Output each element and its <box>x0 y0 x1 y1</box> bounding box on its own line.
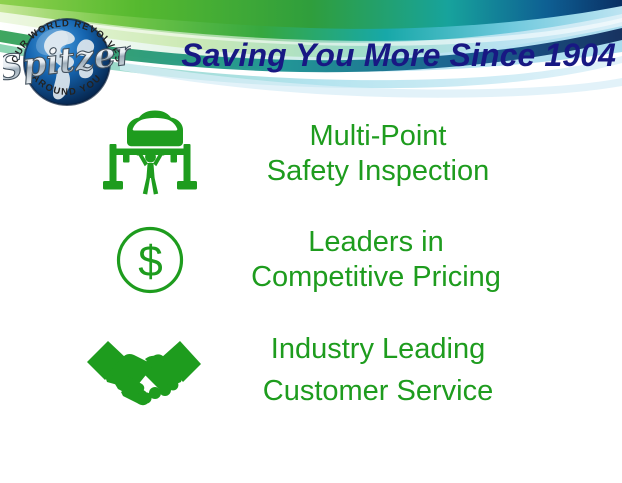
feature-text-leaders-in-competitive-pricing: Leaders in Competitive Pricing <box>208 225 542 296</box>
spitzer-logo: OUR WORLD REVOLVES AROUND YOU Spitzer <box>3 2 131 118</box>
svg-text:$: $ <box>138 237 162 286</box>
page-title: Saving You More Since 1904 <box>150 38 616 73</box>
feature-line: Safety Inspection <box>214 154 542 189</box>
feature-line: Competitive Pricing <box>210 260 542 295</box>
feature-text-industry-leading-customer-service: Industry Leading Customer Service <box>208 328 542 412</box>
feature-icon-wrapper <box>92 108 208 200</box>
feature-line: Industry Leading <box>214 328 542 370</box>
handshake-icon <box>85 332 203 408</box>
feature-icon-wrapper <box>80 332 208 408</box>
feature-line: Multi-Point <box>214 119 542 154</box>
feature-icon-wrapper: $ <box>92 224 208 296</box>
feature-text-multi-point-safety-inspection: Multi-Point Safety Inspection <box>208 119 542 190</box>
feature-industry-leading-customer-service: Industry Leading Customer Service <box>80 320 542 420</box>
slide-canvas: OUR WORLD REVOLVES AROUND YOU Spitzer Sa… <box>0 0 622 483</box>
car-lift-icon <box>101 108 199 200</box>
feature-multi-point-safety-inspection: Multi-Point Safety Inspection <box>92 104 542 204</box>
feature-leaders-in-competitive-pricing: $ Leaders in Competitive Pricing <box>92 212 542 308</box>
dollar-circle-icon: $ <box>114 224 186 296</box>
globe-icon: OUR WORLD REVOLVES AROUND YOU Spitzer <box>3 2 131 118</box>
feature-line: Customer Service <box>214 370 542 412</box>
feature-line: Leaders in <box>210 225 542 260</box>
